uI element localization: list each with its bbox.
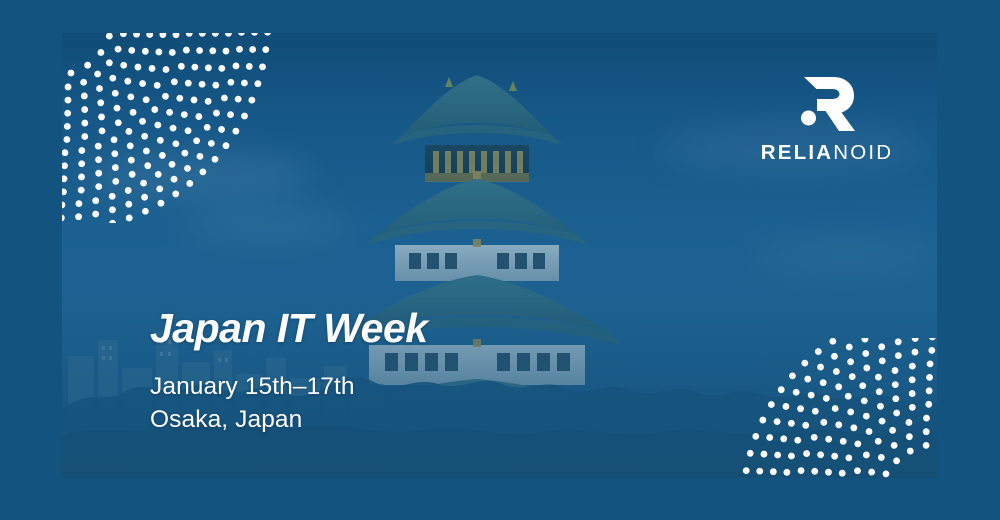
event-text-block: Japan IT Week January 15th–17th Osaka, J… [150, 308, 428, 436]
brand-wordmark: RELIANOID [737, 143, 917, 164]
event-dates: January 15th–17th [150, 371, 428, 403]
wordmark-light-part: NOID [833, 141, 893, 164]
banner-photo: RELIANOID Japan IT Week January 15th–17t… [62, 33, 937, 478]
wordmark-bold-part: RELIA [761, 141, 834, 164]
cloud [752, 238, 937, 276]
brand-logo[interactable]: RELIANOID [737, 71, 917, 164]
relianoid-r-mark [795, 71, 859, 133]
event-location: Osaka, Japan [150, 404, 428, 436]
event-title: Japan IT Week [150, 308, 428, 349]
event-banner: RELIANOID Japan IT Week January 15th–17t… [0, 0, 1000, 520]
